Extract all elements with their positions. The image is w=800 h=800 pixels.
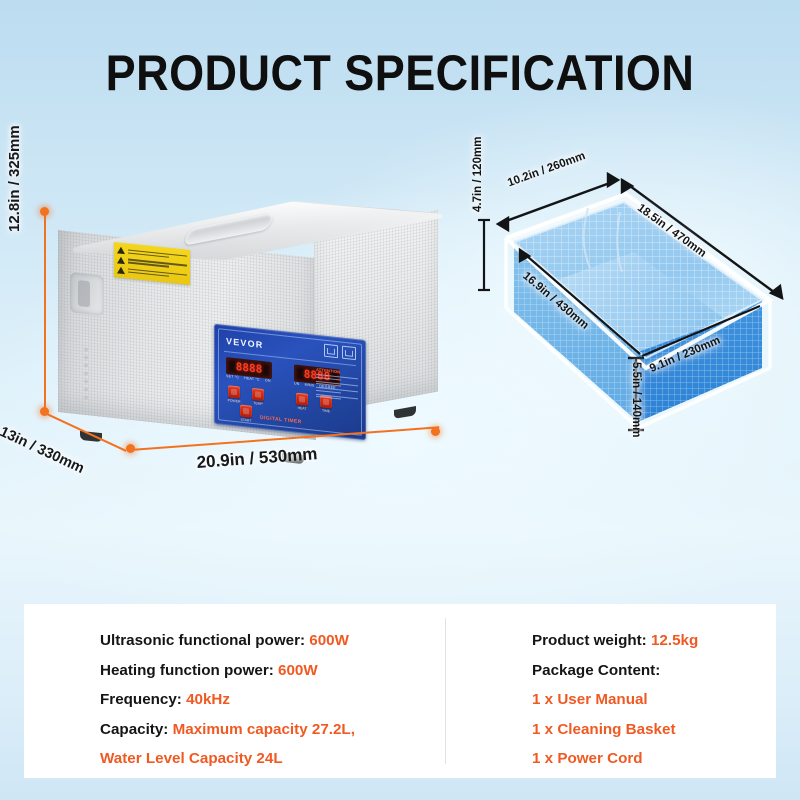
machine-lid [54, 200, 442, 260]
spec-label: Heating function power: [100, 662, 278, 679]
spec-value: 600W [278, 662, 318, 679]
spec-value: 12.5kg [651, 632, 698, 649]
spec-value: 40kHz [186, 691, 230, 708]
spec-row: Capacity: Maximum capacity 27.2L, [100, 715, 355, 745]
machine-height-label: 12.8in / 325mm [6, 125, 23, 232]
power-button[interactable] [228, 385, 240, 398]
spec-row: 1 x Power Cord [532, 744, 698, 774]
specification-card: Ultrasonic functional power: 600W Heatin… [24, 604, 776, 778]
card-divider [445, 618, 446, 764]
spec-value: Maximum capacity 27.2L, [173, 721, 355, 738]
spec-column-right: Product weight: 12.5kg Package Content: … [532, 626, 698, 774]
spec-label: Capacity: [100, 721, 173, 738]
start-button[interactable] [240, 405, 252, 418]
tank-icon [342, 346, 356, 361]
side-handle [70, 272, 104, 316]
spec-row: 1 x Cleaning Basket [532, 715, 698, 745]
spec-row: Heating function power: 600W [100, 656, 355, 686]
spec-row: Package Content: [532, 656, 698, 686]
machine-vent-dots [84, 343, 98, 405]
spec-row: Product weight: 12.5kg [532, 626, 698, 656]
heat-button[interactable] [296, 393, 308, 406]
control-panel[interactable]: VEVOR 8888 8888 SET °C HEAT °C ON UN MIN… [214, 324, 366, 441]
machine-foot [394, 406, 416, 419]
warning-triangle-icon [117, 266, 125, 274]
spec-row: Frequency: 40kHz [100, 685, 355, 715]
warning-triangle-icon [117, 247, 125, 255]
temperature-display-value: 8888 [236, 361, 263, 375]
spec-value: 600W [309, 632, 349, 649]
spec-label: Ultrasonic functional power: [100, 632, 309, 649]
spec-label: Product weight: [532, 632, 651, 649]
cleaning-basket-illustration: 10.2in / 260mm 18.5in / 470mm 4.7in / 12… [470, 172, 800, 482]
spec-label: Frequency: [100, 691, 186, 708]
spec-row: Ultrasonic functional power: 600W [100, 626, 355, 656]
basket-icon [324, 344, 338, 359]
temp-button[interactable] [252, 388, 264, 401]
spec-row: Water Level Capacity 24L [100, 744, 355, 774]
spec-column-left: Ultrasonic functional power: 600W Heatin… [100, 626, 355, 774]
page-title: PRODUCT SPECIFICATION [40, 44, 760, 102]
basket-inner-height-label: 5.5in / 140mm [630, 362, 642, 437]
ultrasonic-cleaner-illustration: VEVOR 8888 8888 SET °C HEAT °C ON UN MIN… [46, 196, 446, 476]
warning-triangle-icon [117, 256, 125, 264]
basket-outer-height-label: 4.7in / 120mm [472, 137, 484, 212]
panel-warning-text: ATTENTION [316, 367, 358, 405]
product-specification-page: PRODUCT SPECIFICATION [0, 0, 800, 800]
spec-row: 1 x User Manual [532, 685, 698, 715]
